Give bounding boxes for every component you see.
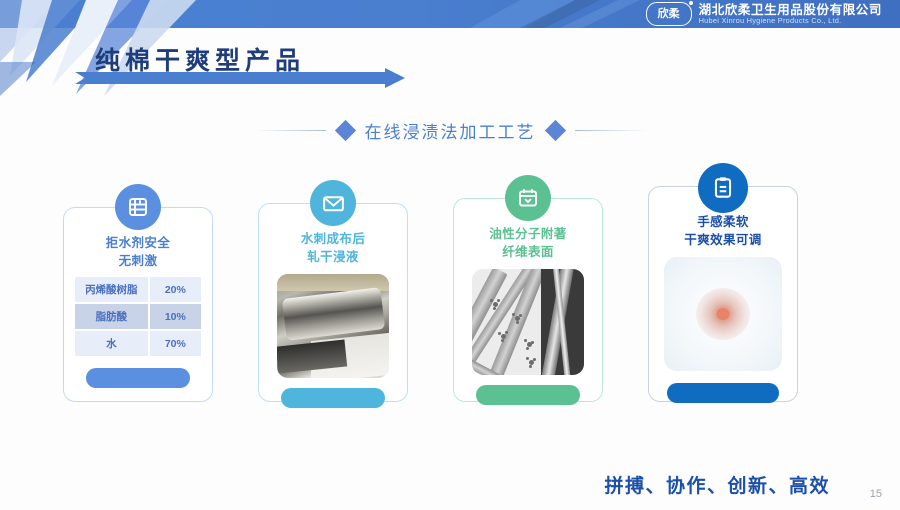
company-name-cn: 湖北欣柔卫生用品股份有限公司	[699, 4, 882, 17]
pad-core	[717, 308, 730, 320]
card-title-line1: 油性分子附著	[489, 227, 566, 241]
card-title: 手感柔软 干爽效果可调	[649, 213, 797, 249]
subtitle-row: 在线浸渍法加工工艺	[0, 118, 900, 143]
row-value: 10%	[149, 303, 201, 330]
book-list-icon	[115, 184, 161, 230]
logo-mark-text: 欣柔	[658, 9, 680, 20]
fiber-image	[472, 269, 584, 375]
row-name: 丙烯酸树脂	[75, 277, 149, 303]
calendar-icon	[505, 175, 551, 221]
card-action-pill[interactable]	[667, 383, 779, 403]
row-name: 脂肪酸	[75, 303, 149, 330]
row-value: 70%	[149, 330, 201, 357]
card-title-line1: 手感柔软	[697, 215, 749, 229]
card-panel: 油性分子附著 纤维表面	[453, 198, 603, 402]
top-banner: 欣柔 湖北欣柔卫生用品股份有限公司 Hubei Xinrou Hygiene P…	[0, 0, 900, 28]
roller-machine-photo	[277, 274, 389, 378]
diamond-left-icon	[334, 120, 355, 141]
subtitle-line-right	[575, 130, 647, 131]
card-action-pill[interactable]	[281, 388, 385, 408]
card-action-pill[interactable]	[86, 368, 190, 388]
fiber-dark-side	[541, 269, 584, 375]
fiber-microscope-photo	[472, 269, 584, 375]
subtitle-text: 在线浸渍法加工工艺	[365, 118, 536, 143]
card-title-line2: 轧干浸液	[307, 250, 359, 264]
pad-image	[664, 257, 782, 371]
row-name: 水	[75, 330, 149, 357]
card-title: 油性分子附著 纤维表面	[454, 225, 602, 261]
absorbent-pad-photo	[664, 257, 782, 371]
table-row: 丙烯酸树脂 20%	[75, 277, 201, 303]
card-title: 拒水剂安全 无刺激	[64, 234, 212, 270]
card-title-line1: 拒水剂安全	[106, 236, 171, 250]
card-panel: 手感柔软 干爽效果可调	[648, 186, 798, 402]
card-panel: 拒水剂安全 无刺激 丙烯酸树脂 20% 脂肪酸 10% 水 70%	[63, 207, 213, 402]
table-row: 脂肪酸 10%	[75, 303, 201, 330]
logo-mark-icon: 欣柔	[646, 2, 692, 26]
card-title-line2: 无刺激	[119, 254, 158, 268]
composition-table: 丙烯酸树脂 20% 脂肪酸 10% 水 70%	[75, 277, 201, 358]
card-title: 水刺成布后 轧干浸液	[259, 230, 407, 266]
fiber-light-side	[472, 269, 541, 375]
card-title-line2: 纤维表面	[502, 245, 554, 259]
card-panel: 水刺成布后 轧干浸液	[258, 203, 408, 402]
row-value: 20%	[149, 277, 201, 303]
page-number: 15	[870, 488, 882, 500]
footer-slogan: 拼搏、协作、创新、高效	[604, 471, 830, 498]
card-title-line1: 水刺成布后	[301, 232, 366, 246]
subtitle-line-left	[254, 130, 326, 131]
roller-image	[277, 274, 389, 378]
company-name-en: Hubei Xinrou Hygiene Products Co., Ltd.	[699, 17, 882, 25]
roller-cylinder	[282, 287, 385, 340]
slide-root: 欣柔 湖北欣柔卫生用品股份有限公司 Hubei Xinrou Hygiene P…	[0, 0, 900, 510]
table-row: 水 70%	[75, 330, 201, 357]
logo-dot-icon	[689, 1, 693, 5]
card-title-line2: 干爽效果可调	[684, 233, 761, 247]
envelope-icon	[310, 180, 356, 226]
diamond-right-icon	[544, 120, 565, 141]
document-icon	[698, 163, 748, 213]
title-arrow-icon	[75, 68, 430, 88]
company-logo: 欣柔 湖北欣柔卫生用品股份有限公司 Hubei Xinrou Hygiene P…	[646, 0, 882, 28]
card-action-pill[interactable]	[476, 385, 580, 405]
